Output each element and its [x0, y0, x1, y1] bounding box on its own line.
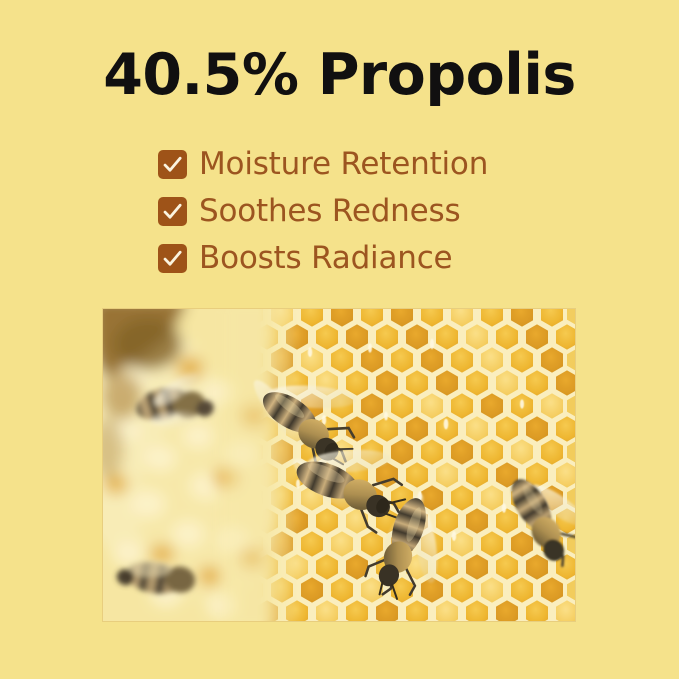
list-item: Soothes Redness	[158, 188, 578, 235]
honeybees-on-honeycomb-photo	[102, 308, 576, 622]
checkbox-checked-icon	[158, 244, 187, 273]
list-item: Moisture Retention	[158, 141, 578, 188]
propolis-product-callout: 40.5% Propolis Moisture Retention Soothe…	[0, 0, 679, 679]
benefits-list: Moisture Retention Soothes Redness Boost…	[158, 141, 578, 282]
list-item: Boosts Radiance	[158, 235, 578, 282]
checkbox-checked-icon	[158, 150, 187, 179]
checkbox-checked-icon	[158, 197, 187, 226]
list-item-label: Soothes Redness	[199, 196, 460, 227]
list-item-label: Moisture Retention	[199, 149, 488, 180]
list-item-label: Boosts Radiance	[199, 243, 452, 274]
page-title: 40.5% Propolis	[0, 44, 679, 108]
